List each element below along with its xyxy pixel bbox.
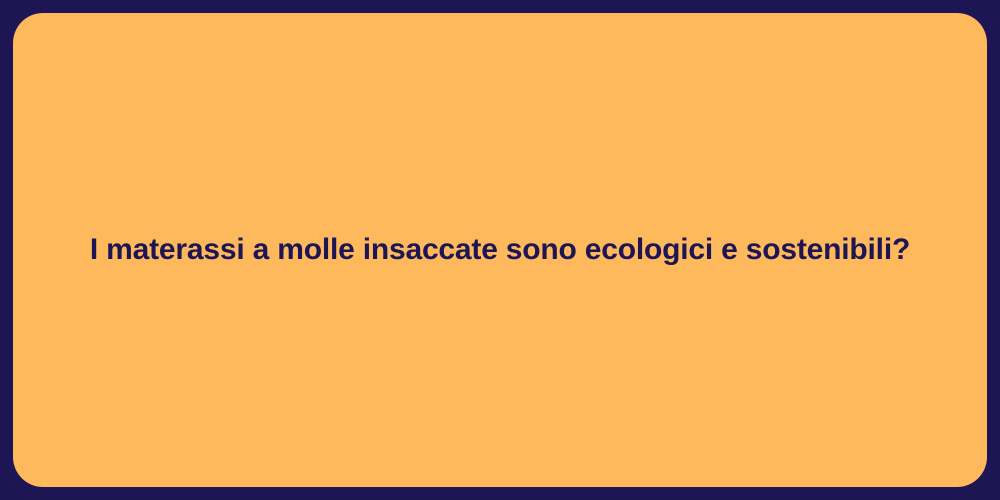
question-headline: I materassi a molle insaccate sono ecolo… [50,231,950,269]
outer-frame: I materassi a molle insaccate sono ecolo… [0,0,1000,500]
question-card: I materassi a molle insaccate sono ecolo… [13,13,987,487]
